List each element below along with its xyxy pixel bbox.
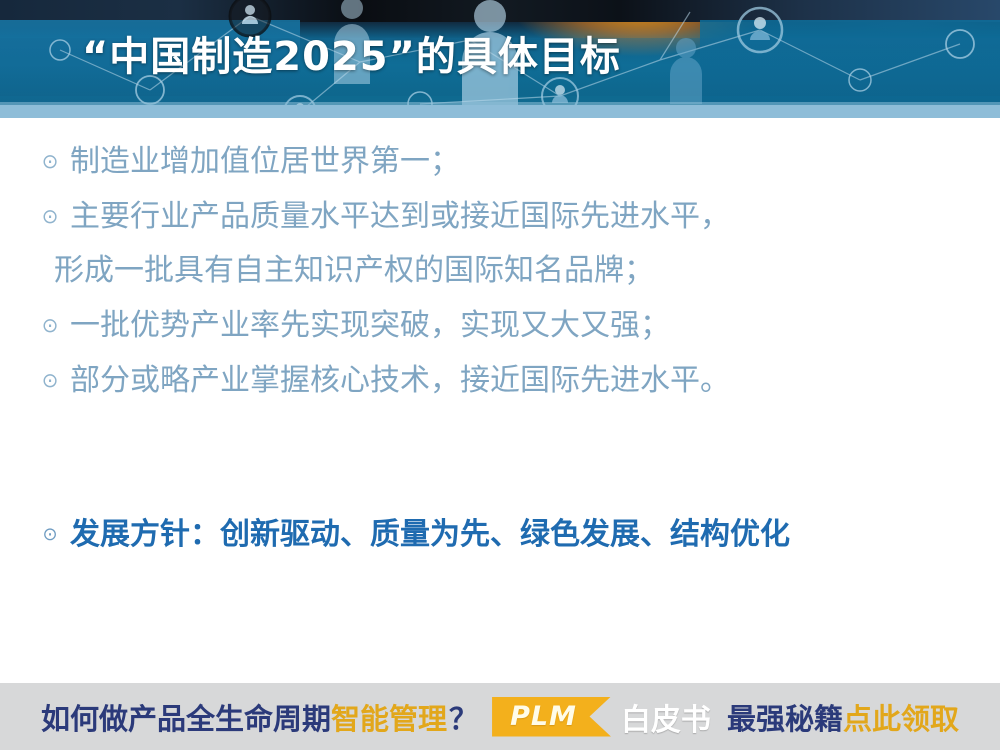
content-spacer <box>30 408 970 516</box>
bullet-marker-icon: ⊙ <box>30 134 70 188</box>
slide: “中国制造2025”的具体目标 ⊙制造业增加值位居世界第一； ⊙主要行业产品质量… <box>0 0 1000 750</box>
list-item: ⊙一批优势产业率先实现突破，实现又大又强； <box>30 298 970 353</box>
slide-content: ⊙制造业增加值位居世界第一； ⊙主要行业产品质量水平达到或接近国际先进水平， 形… <box>0 118 1000 683</box>
list-item: ⊙制造业增加值位居世界第一； <box>30 134 970 189</box>
plm-badge: PLM <box>492 697 611 737</box>
header-bottom-strip <box>0 105 1000 118</box>
list-item: ⊙部分或略产业掌握核心技术，接近国际先进水平。 <box>30 353 970 408</box>
slide-header-banner: “中国制造2025”的具体目标 <box>0 0 1000 118</box>
promo-question-highlight: 智能管理 <box>331 696 447 738</box>
page-title: “中国制造2025”的具体目标 <box>0 0 1000 105</box>
bullet-marker-icon: ⊙ <box>30 516 70 554</box>
bullet-marker-icon: ⊙ <box>30 189 70 243</box>
list-item: ⊙主要行业产品质量水平达到或接近国际先进水平， <box>30 189 970 244</box>
promo-footer-banner[interactable]: 如何做产品全生命周期智能管理？ PLM 白皮书 最强秘籍 点此领取 <box>0 683 1000 750</box>
whitepaper-label: 白皮书 <box>621 695 711 739</box>
promo-cta-link[interactable]: 点此领取 <box>843 696 959 738</box>
bullet-marker-icon: ⊙ <box>30 353 70 407</box>
development-policy-item: ⊙发展方针：创新驱动、质量为先、绿色发展、结构优化 <box>30 516 970 554</box>
list-item-label: 部分或略产业掌握核心技术，接近国际先进水平。 <box>70 363 730 398</box>
promo-question-mark: ？ <box>449 696 478 738</box>
list-item-label: 一批优势产业率先实现突破，实现又大又强； <box>70 308 670 343</box>
promo-footer-content: 如何做产品全生命周期智能管理？ PLM 白皮书 最强秘籍 点此领取 <box>41 695 959 739</box>
bullet-marker-icon: ⊙ <box>30 298 70 352</box>
promo-tagline: 最强秘籍 <box>727 696 843 738</box>
development-policy-label: 发展方针：创新驱动、质量为先、绿色发展、结构优化 <box>70 517 790 552</box>
list-item-label: 制造业增加值位居世界第一； <box>70 144 460 179</box>
goals-bullet-list: ⊙制造业增加值位居世界第一； ⊙主要行业产品质量水平达到或接近国际先进水平， 形… <box>30 134 970 554</box>
list-item-continuation: 形成一批具有自主知识产权的国际知名品牌； <box>54 244 970 298</box>
promo-question-prefix: 如何做产品全生命周期 <box>41 696 331 738</box>
list-item-label: 主要行业产品质量水平达到或接近国际先进水平， <box>70 199 730 234</box>
